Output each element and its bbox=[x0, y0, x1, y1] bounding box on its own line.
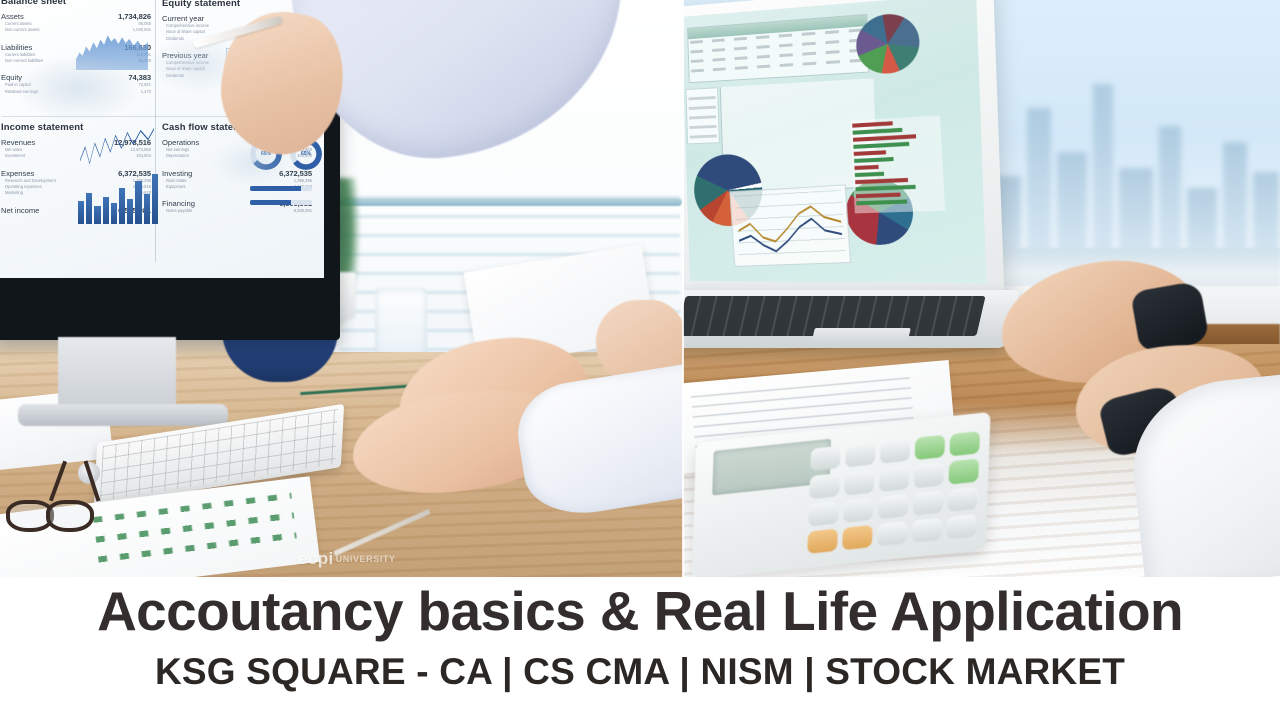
calculator-keypad bbox=[807, 431, 980, 554]
row-label: Net income bbox=[1, 206, 39, 215]
dashboard-divider-vertical bbox=[155, 0, 156, 262]
row-label: Equity bbox=[1, 73, 22, 82]
laptop-screen bbox=[683, 0, 987, 283]
subrow-value: 546,620 bbox=[136, 190, 151, 196]
spreadsheet-dashboard bbox=[683, 0, 987, 283]
subrow-label: Issue of share capital bbox=[166, 66, 205, 72]
watermark-primary: ecpi bbox=[298, 549, 334, 569]
subrow-label: Retained earnings bbox=[5, 89, 38, 95]
row-investing: Investing 6,372,535 bbox=[162, 169, 312, 178]
horizontal-bar-chart bbox=[850, 115, 945, 213]
subrow-label: Investment bbox=[5, 153, 25, 159]
subrow-label: Dividends bbox=[166, 73, 184, 79]
panel-balance-sheet: Balance sheet Assets 1,734,826 Current a… bbox=[1, 0, 151, 95]
subrow-label: Equipment bbox=[166, 184, 186, 190]
subrow: Investment 104,604 bbox=[1, 153, 151, 159]
photo-band: Balance sheet Assets 1,734,826 Current a… bbox=[0, 0, 1280, 577]
subrow-value: 4,430,519 bbox=[133, 184, 151, 190]
eyeglasses bbox=[6, 486, 102, 532]
subrow-label: Current assets bbox=[5, 21, 32, 27]
subrow-label: Notes payable bbox=[166, 208, 192, 214]
row-label: Revenues bbox=[1, 138, 35, 147]
row-value: 1,734,826 bbox=[118, 12, 151, 21]
stock-photo-watermark: ecpi UNIVERSITY bbox=[298, 548, 438, 570]
subrow-label: Current liabilities bbox=[5, 52, 35, 58]
subrow-label: Non-current liabilities bbox=[5, 58, 43, 64]
subrow-value: 110,301 bbox=[137, 52, 152, 58]
subrow: Research and Development 1,395,396 bbox=[1, 178, 151, 184]
subrow: Notes payable 6,505,981 bbox=[162, 208, 312, 214]
subrow-value: 1,040,601 bbox=[133, 27, 151, 33]
row-financing: Financing 6,505,981 bbox=[162, 199, 312, 208]
subrow-value: 104,604 bbox=[136, 153, 151, 159]
thumbnail-subtitle: KSG SQUARE - CA | CS CMA | NISM | STOCK … bbox=[0, 651, 1280, 693]
video-thumbnail: Balance sheet Assets 1,734,826 Current a… bbox=[0, 0, 1280, 720]
subrow-value: 1,472 bbox=[141, 89, 151, 95]
watermark-secondary: UNIVERSITY bbox=[336, 554, 396, 564]
right-photo-laptop-analytics bbox=[683, 0, 1280, 577]
row-label: Investing bbox=[162, 169, 192, 178]
row-value: 6,372,535 bbox=[279, 169, 312, 178]
subrow: Retained earnings 1,472 bbox=[1, 89, 151, 95]
left-photo-accountant-desk: Balance sheet Assets 1,734,826 Current a… bbox=[0, 0, 683, 577]
row-value: 6,505,981 bbox=[118, 206, 151, 215]
secondary-table bbox=[685, 87, 719, 144]
subrow: Current liabilities 110,301 bbox=[1, 52, 151, 58]
monitor-stand-base bbox=[18, 404, 228, 426]
panel-income-statement: Income statement Revenues 12,978,516 Net… bbox=[1, 122, 151, 215]
subrow: Equipment 4,430,519 bbox=[162, 184, 312, 190]
row-net-income: Net income 6,505,981 bbox=[1, 206, 151, 215]
subrow: Current assets 88,065 bbox=[1, 21, 151, 27]
row-assets: Assets 1,734,826 bbox=[1, 12, 151, 21]
subrow-label: Net sales bbox=[5, 147, 22, 153]
row-label: Operations bbox=[162, 138, 199, 147]
subrow-value: 6,505,981 bbox=[294, 208, 312, 214]
subrow-label: Net earnings bbox=[166, 147, 189, 153]
subrow: Non-current liabilities 56,329 bbox=[1, 58, 151, 64]
panel-title: Income statement bbox=[1, 122, 151, 133]
subrow-label: Comprehensive income bbox=[166, 23, 209, 29]
area-chart-balance-sheet bbox=[76, 28, 148, 70]
subrow: Non-current assets 1,040,601 bbox=[1, 27, 151, 33]
thumbnail-title: Accoutancy basics & Real Life Applicatio… bbox=[0, 579, 1280, 643]
subrow-label: Research and Development bbox=[5, 178, 56, 184]
panel-title: Balance sheet bbox=[1, 0, 151, 7]
subrow-value: 1,395,396 bbox=[294, 178, 312, 184]
row-equity: Equity 74,383 bbox=[1, 73, 151, 82]
subrow-label: Dividends bbox=[166, 36, 184, 42]
subrow-value: 4,430,519 bbox=[294, 184, 312, 190]
row-value: 6,372,535 bbox=[118, 169, 151, 178]
subrow: Marketing 546,620 bbox=[1, 190, 151, 196]
subrow: Operating expenses 4,430,519 bbox=[1, 184, 151, 190]
progress-bar-1 bbox=[250, 186, 312, 191]
row-label: Liabilities bbox=[1, 43, 32, 52]
subrow-label: Operating expenses bbox=[5, 184, 42, 190]
laptop-lid bbox=[683, 0, 1005, 303]
data-table bbox=[687, 14, 869, 83]
row-value: 166,630 bbox=[124, 43, 151, 52]
row-value: 12,978,516 bbox=[114, 138, 151, 147]
row-revenues: Revenues 12,978,516 bbox=[1, 138, 151, 147]
subrow-value: 72,921 bbox=[138, 82, 151, 88]
subrow-value: 1,395,396 bbox=[133, 178, 151, 184]
row-expenses: Expenses 6,372,535 bbox=[1, 169, 151, 178]
subrow-value: 104,604 bbox=[297, 153, 312, 159]
subrow-value: 88,065 bbox=[138, 21, 151, 27]
panel-title: Equity statement bbox=[162, 0, 312, 9]
row-label: Current year bbox=[162, 14, 204, 23]
row-label: Previous year bbox=[162, 51, 208, 60]
subrow-value: 12,873,860 bbox=[131, 147, 152, 153]
line-chart-income bbox=[80, 126, 154, 174]
subrow-label: Real estate bbox=[166, 178, 187, 184]
row-value: 6,505,981 bbox=[279, 199, 312, 208]
laptop bbox=[683, 0, 1019, 354]
caption-band: Accoutancy basics & Real Life Applicatio… bbox=[0, 577, 1280, 720]
subrow-label: Depreciation bbox=[166, 153, 189, 159]
subrow: Depreciation 104,604 bbox=[162, 153, 312, 159]
subrow-label: Comprehensive income bbox=[166, 60, 209, 66]
photo-divider-seam bbox=[682, 0, 684, 577]
laptop-trackpad bbox=[811, 328, 911, 344]
bar-chart-income bbox=[78, 170, 158, 224]
subrow: Real estate 1,395,396 bbox=[162, 178, 312, 184]
row-value: 74,383 bbox=[128, 73, 151, 82]
row-label: Expenses bbox=[1, 169, 34, 178]
subrow: Paid-in capital 72,921 bbox=[1, 82, 151, 88]
subrow-label: Non-current assets bbox=[5, 27, 40, 33]
row-label: Financing bbox=[162, 199, 195, 208]
subrow-label: Marketing bbox=[5, 190, 23, 196]
subrow-label: Issue of share capital bbox=[166, 29, 205, 35]
subrow-value: 56,329 bbox=[138, 58, 151, 64]
row-label: Assets bbox=[1, 12, 24, 21]
subrow-label: Paid-in capital bbox=[5, 82, 31, 88]
progress-bar-2 bbox=[250, 200, 312, 205]
subrow: Net sales 12,873,860 bbox=[1, 147, 151, 153]
line-chart bbox=[729, 185, 851, 267]
row-liabilities: Liabilities 166,630 bbox=[1, 43, 151, 52]
